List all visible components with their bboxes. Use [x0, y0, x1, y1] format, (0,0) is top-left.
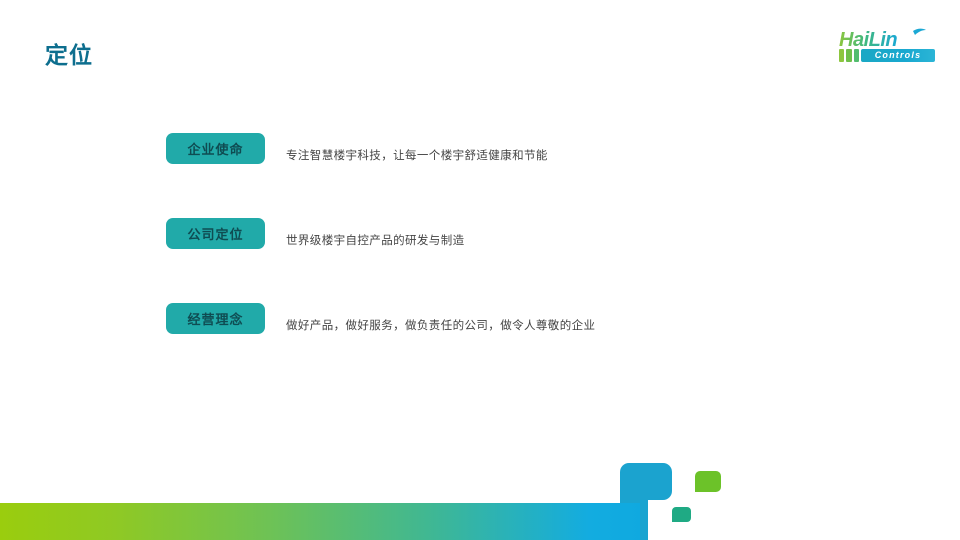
- badge-corporate-mission[interactable]: 企业使命: [166, 133, 265, 164]
- content-row: 公司定位 世界级楼宇自控产品的研发与制造: [166, 218, 906, 249]
- content-row: 企业使命 专注智慧楼宇科技，让每一个楼宇舒适健康和节能: [166, 133, 906, 164]
- page-title: 定位: [45, 40, 93, 70]
- content-rows: 企业使命 专注智慧楼宇科技，让每一个楼宇舒适健康和节能 公司定位 世界级楼宇自控…: [166, 133, 906, 334]
- logo-bars-icon: [839, 49, 861, 62]
- logo-subtext-bar: Controls: [839, 49, 935, 62]
- decoration-teal-square: [672, 507, 691, 522]
- content-row: 经营理念 做好产品，做好服务，做负责任的公司，做令人尊敬的企业: [166, 303, 906, 334]
- decoration-green-square: [695, 471, 721, 492]
- badge-company-positioning[interactable]: 公司定位: [166, 218, 265, 249]
- decoration-cyan-block: [620, 463, 672, 500]
- footer-decoration: [0, 450, 960, 540]
- brand-logo: HaiLin Controls: [839, 28, 935, 68]
- badge-business-philosophy[interactable]: 经营理念: [166, 303, 265, 334]
- svg-text:HaiLin: HaiLin: [839, 29, 897, 51]
- decoration-gradient-bar: [0, 503, 640, 540]
- slide: 定位 HaiLin Controls: [0, 0, 960, 540]
- row-description: 做好产品，做好服务，做负责任的公司，做令人尊敬的企业: [286, 304, 595, 334]
- logo-wordmark-icon: HaiLin: [839, 28, 935, 51]
- row-description: 专注智慧楼宇科技，让每一个楼宇舒适健康和节能: [286, 134, 548, 164]
- row-description: 世界级楼宇自控产品的研发与制造: [286, 219, 465, 249]
- logo-subtext: Controls: [861, 49, 935, 62]
